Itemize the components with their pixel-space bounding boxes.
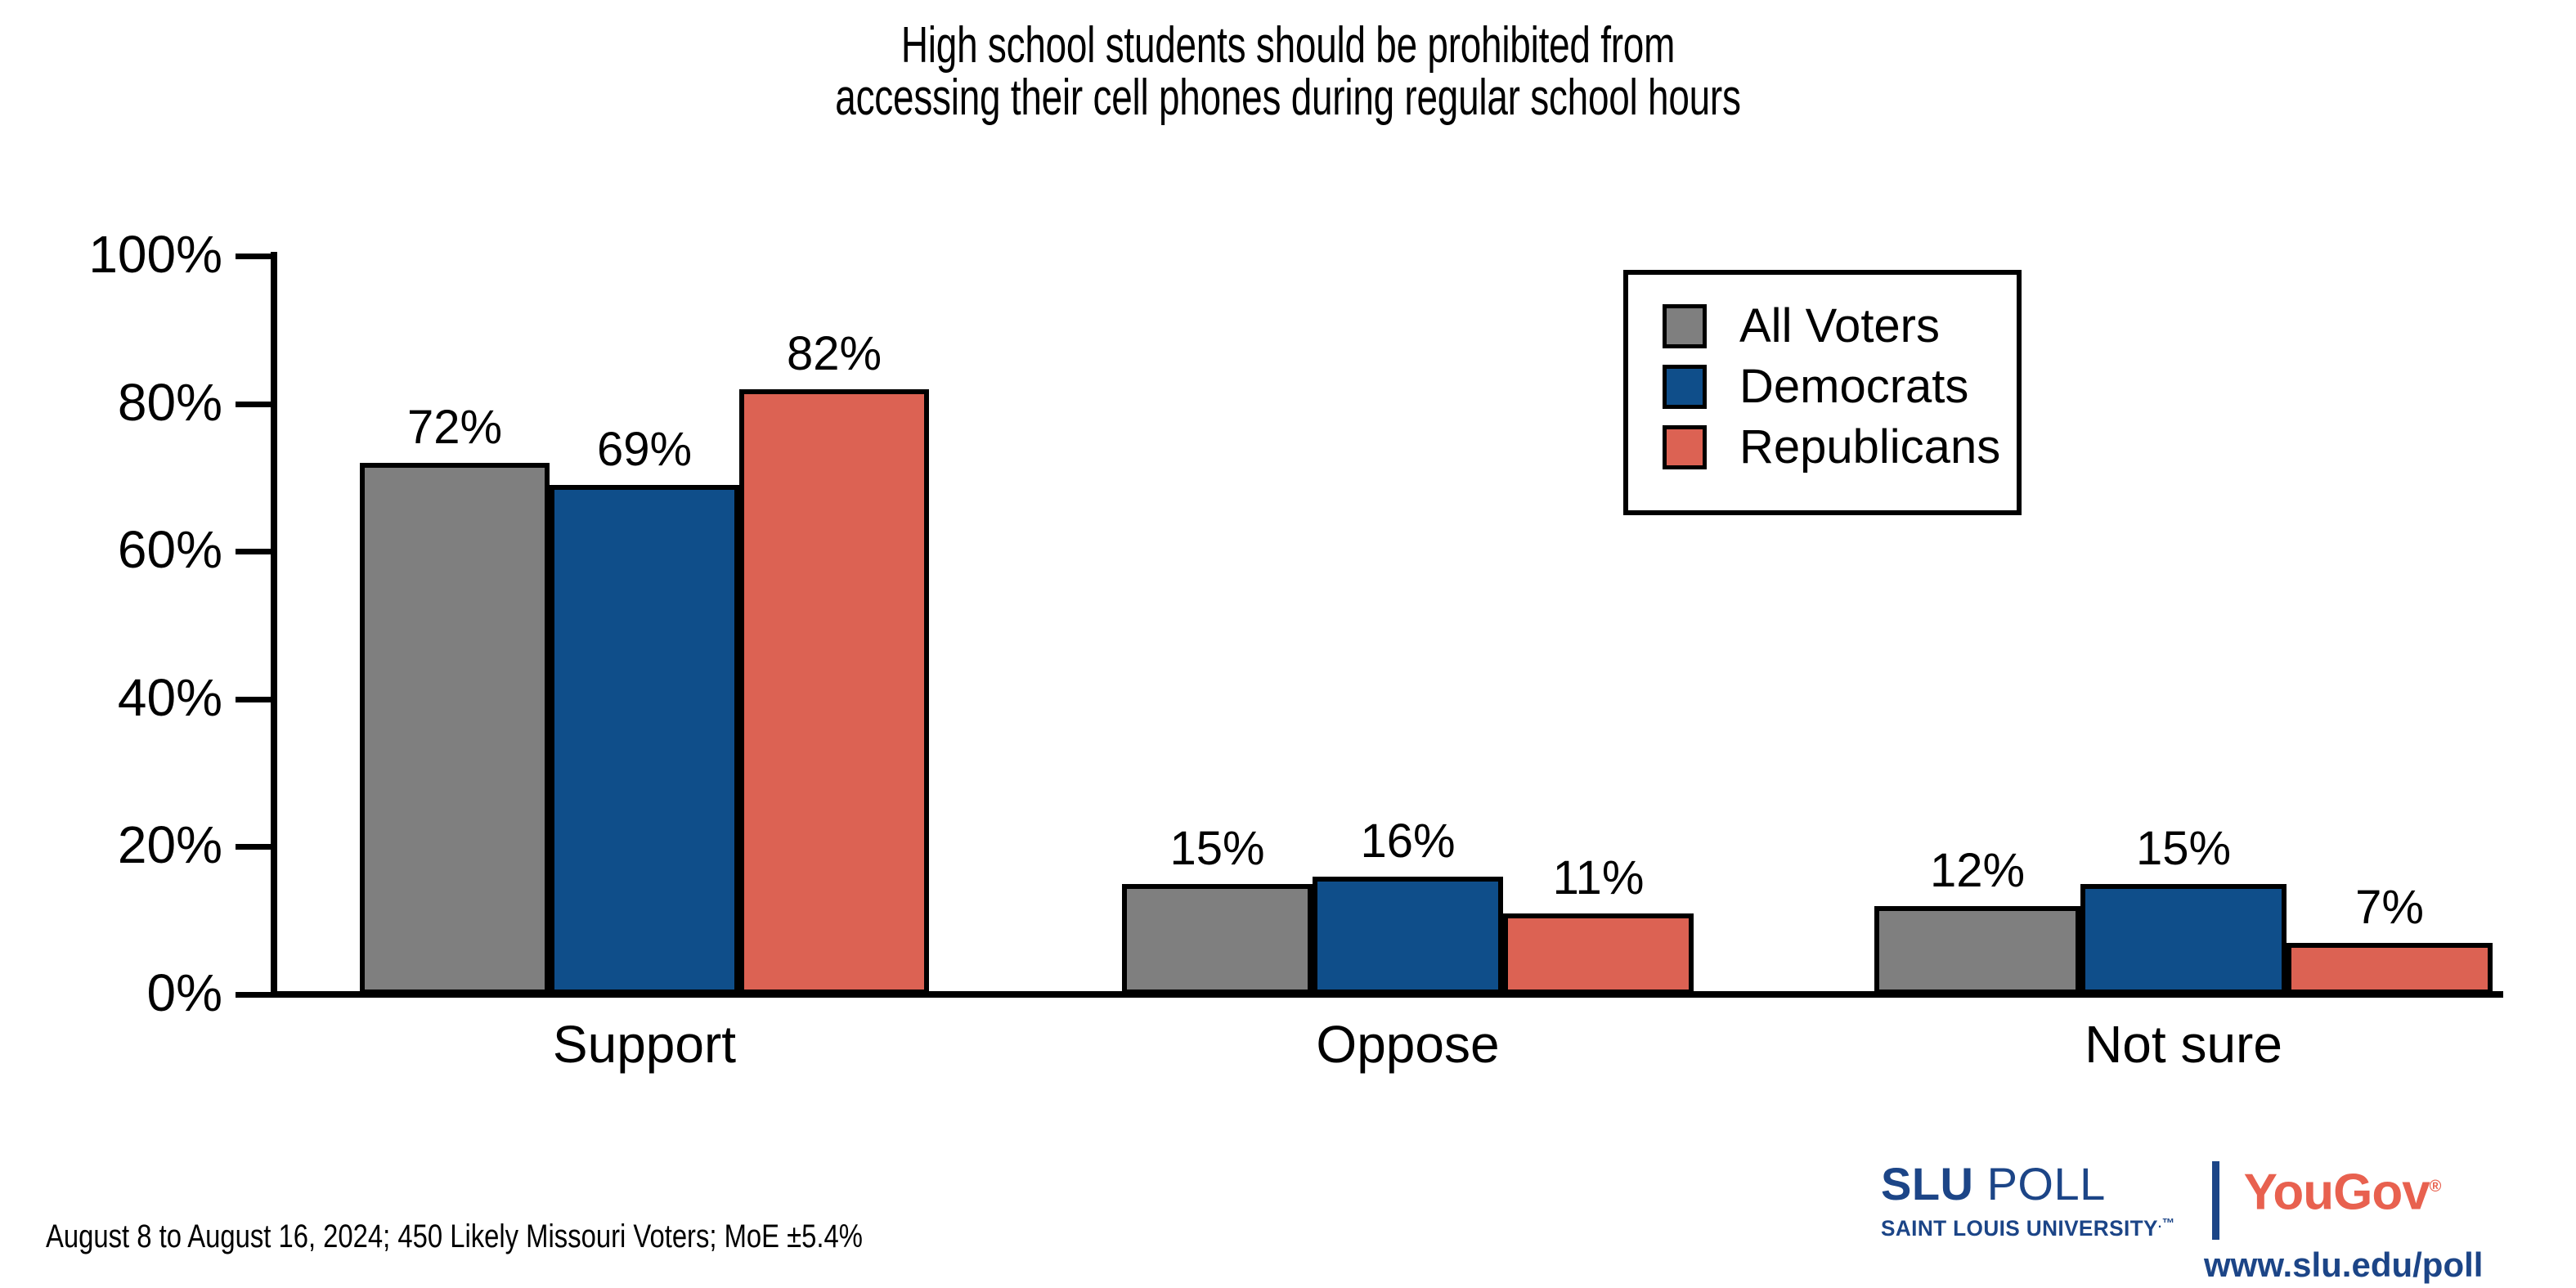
chart-legend: All Voters Democrats Republicans [1623, 270, 2022, 515]
y-axis-tick [236, 254, 276, 259]
logo-divider [2212, 1161, 2219, 1240]
chart-canvas: High school students should be prohibite… [0, 0, 2576, 1288]
legend-item-all-voters[interactable]: All Voters [1663, 296, 2017, 357]
bar-not-sure-republicans[interactable] [2287, 943, 2493, 994]
logo-block: SLU POLL SAINT LOUIS UNIVERSITY.™ YouGov… [1881, 1161, 2535, 1288]
y-axis-tick [236, 697, 276, 702]
bar-value-label: 7% [2287, 884, 2493, 931]
legend-item-republicans[interactable]: Republicans [1663, 417, 2017, 478]
y-axis-tick [236, 549, 276, 554]
slu-poll-wordmark: SLU POLL [1881, 1161, 2184, 1207]
y-axis-tick-label: 40% [0, 671, 222, 724]
legend-swatch-icon-republicans [1663, 425, 1707, 469]
poll-thin-text: POLL [1987, 1158, 2106, 1209]
y-axis-line [271, 252, 277, 998]
bar-value-label: 72% [360, 404, 550, 451]
y-axis-tick [236, 992, 276, 998]
slu-sub-text: SAINT LOUIS UNIVERSITY [1881, 1216, 2158, 1241]
legend-item-democrats[interactable]: Democrats [1663, 357, 2017, 417]
legend-label-democrats: Democrats [1739, 363, 1968, 411]
yougov-wordmark: YouGov [2244, 1165, 2430, 1221]
bar-oppose-republicans[interactable] [1503, 913, 1694, 994]
bar-value-label: 69% [550, 426, 739, 473]
y-axis-tick-label: 80% [0, 376, 222, 429]
bar-oppose-democrats[interactable] [1313, 877, 1503, 994]
bar-not-sure-democrats[interactable] [2080, 884, 2287, 994]
category-label-oppose: Oppose [1122, 1016, 1694, 1073]
bar-support-republicans[interactable] [739, 389, 929, 994]
legend-swatch-icon-democrats [1663, 365, 1707, 409]
y-axis-tick-label: 60% [0, 523, 222, 576]
trademark-icon: .™ [2158, 1217, 2175, 1231]
bar-value-label: 12% [1874, 847, 2080, 895]
registered-trademark-icon: ® [2430, 1178, 2441, 1196]
category-label-not-sure: Not sure [1874, 1016, 2493, 1073]
logo-row: SLU POLL SAINT LOUIS UNIVERSITY.™ YouGov… [1881, 1161, 2535, 1241]
slu-university-subtitle: SAINT LOUIS UNIVERSITY.™ [1881, 1211, 2174, 1241]
bar-value-label: 11% [1503, 855, 1694, 902]
bar-value-label: 15% [1122, 825, 1313, 873]
y-axis-tick [236, 402, 276, 407]
bar-value-label: 82% [739, 330, 929, 378]
bar-not-sure-all-voters[interactable] [1874, 906, 2080, 994]
yougov-logo: YouGov® [2244, 1161, 2441, 1218]
plot-area: 0%20%40%60%80%100% 72%69%82%15%16%11%12%… [0, 0, 2576, 1288]
legend-label-all-voters: All Voters [1739, 303, 1940, 350]
slu-poll-logo: SLU POLL SAINT LOUIS UNIVERSITY.™ [1881, 1161, 2184, 1241]
y-axis-tick-label: 100% [0, 228, 222, 280]
survey-methodology-note: August 8 to August 16, 2024; 450 Likely … [46, 1218, 863, 1254]
y-axis-tick-label: 20% [0, 819, 222, 871]
bar-value-label: 16% [1313, 818, 1503, 865]
bar-support-democrats[interactable] [550, 485, 739, 994]
bar-value-label: 15% [2080, 825, 2287, 873]
y-axis-tick-label: 0% [0, 967, 222, 1019]
y-axis-tick [236, 844, 276, 850]
slu-bold-text: SLU [1881, 1158, 1974, 1209]
slu-poll-url[interactable]: www.slu.edu/poll [2204, 1246, 2483, 1284]
bar-support-all-voters[interactable] [360, 463, 550, 994]
legend-label-republicans: Republicans [1739, 424, 2000, 471]
category-label-support: Support [360, 1016, 929, 1073]
legend-swatch-icon-all-voters [1663, 304, 1707, 348]
bar-oppose-all-voters[interactable] [1122, 884, 1313, 994]
